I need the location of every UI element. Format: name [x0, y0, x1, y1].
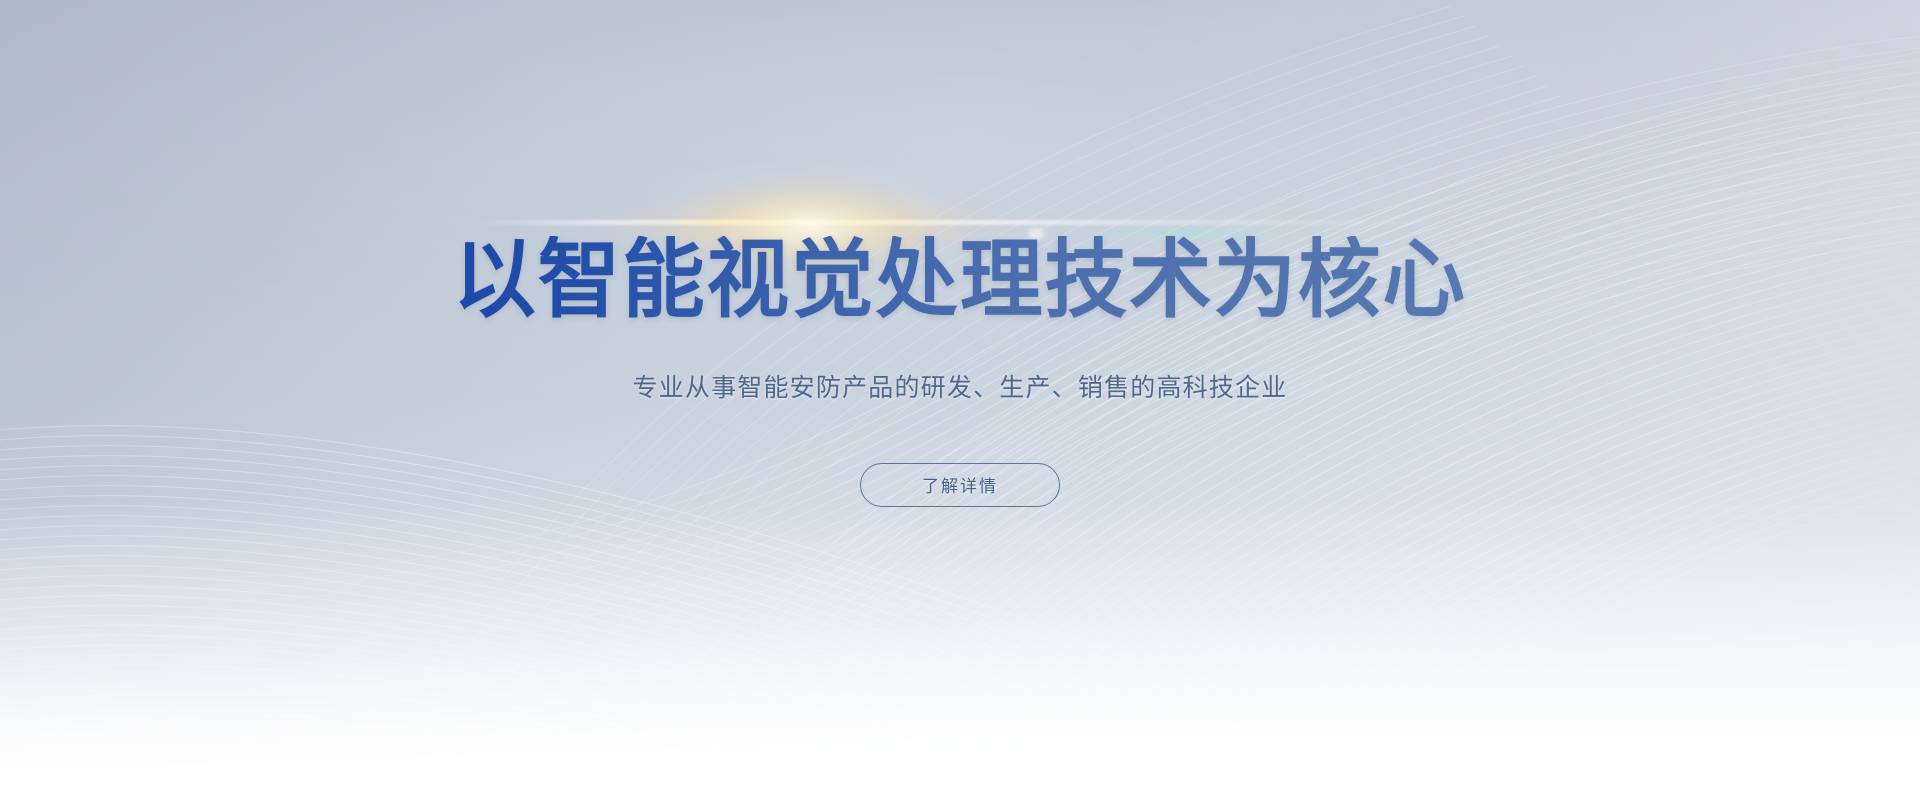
hero-content: 以智能视觉处理技术为核心 专业从事智能安防产品的研发、生产、销售的高科技企业 了… — [0, 236, 1920, 507]
hero-headline: 以智能视觉处理技术为核心 — [38, 236, 1881, 325]
hero-subtitle: 专业从事智能安防产品的研发、生产、销售的高科技企业 — [0, 369, 1920, 407]
learn-more-button[interactable]: 了解详情 — [860, 463, 1060, 507]
hero-cta-wrapper: 了解详情 — [0, 463, 1920, 507]
hero-banner: 以智能视觉处理技术为核心 专业从事智能安防产品的研发、生产、销售的高科技企业 了… — [0, 0, 1920, 800]
background-bottom-fade — [0, 500, 1920, 800]
